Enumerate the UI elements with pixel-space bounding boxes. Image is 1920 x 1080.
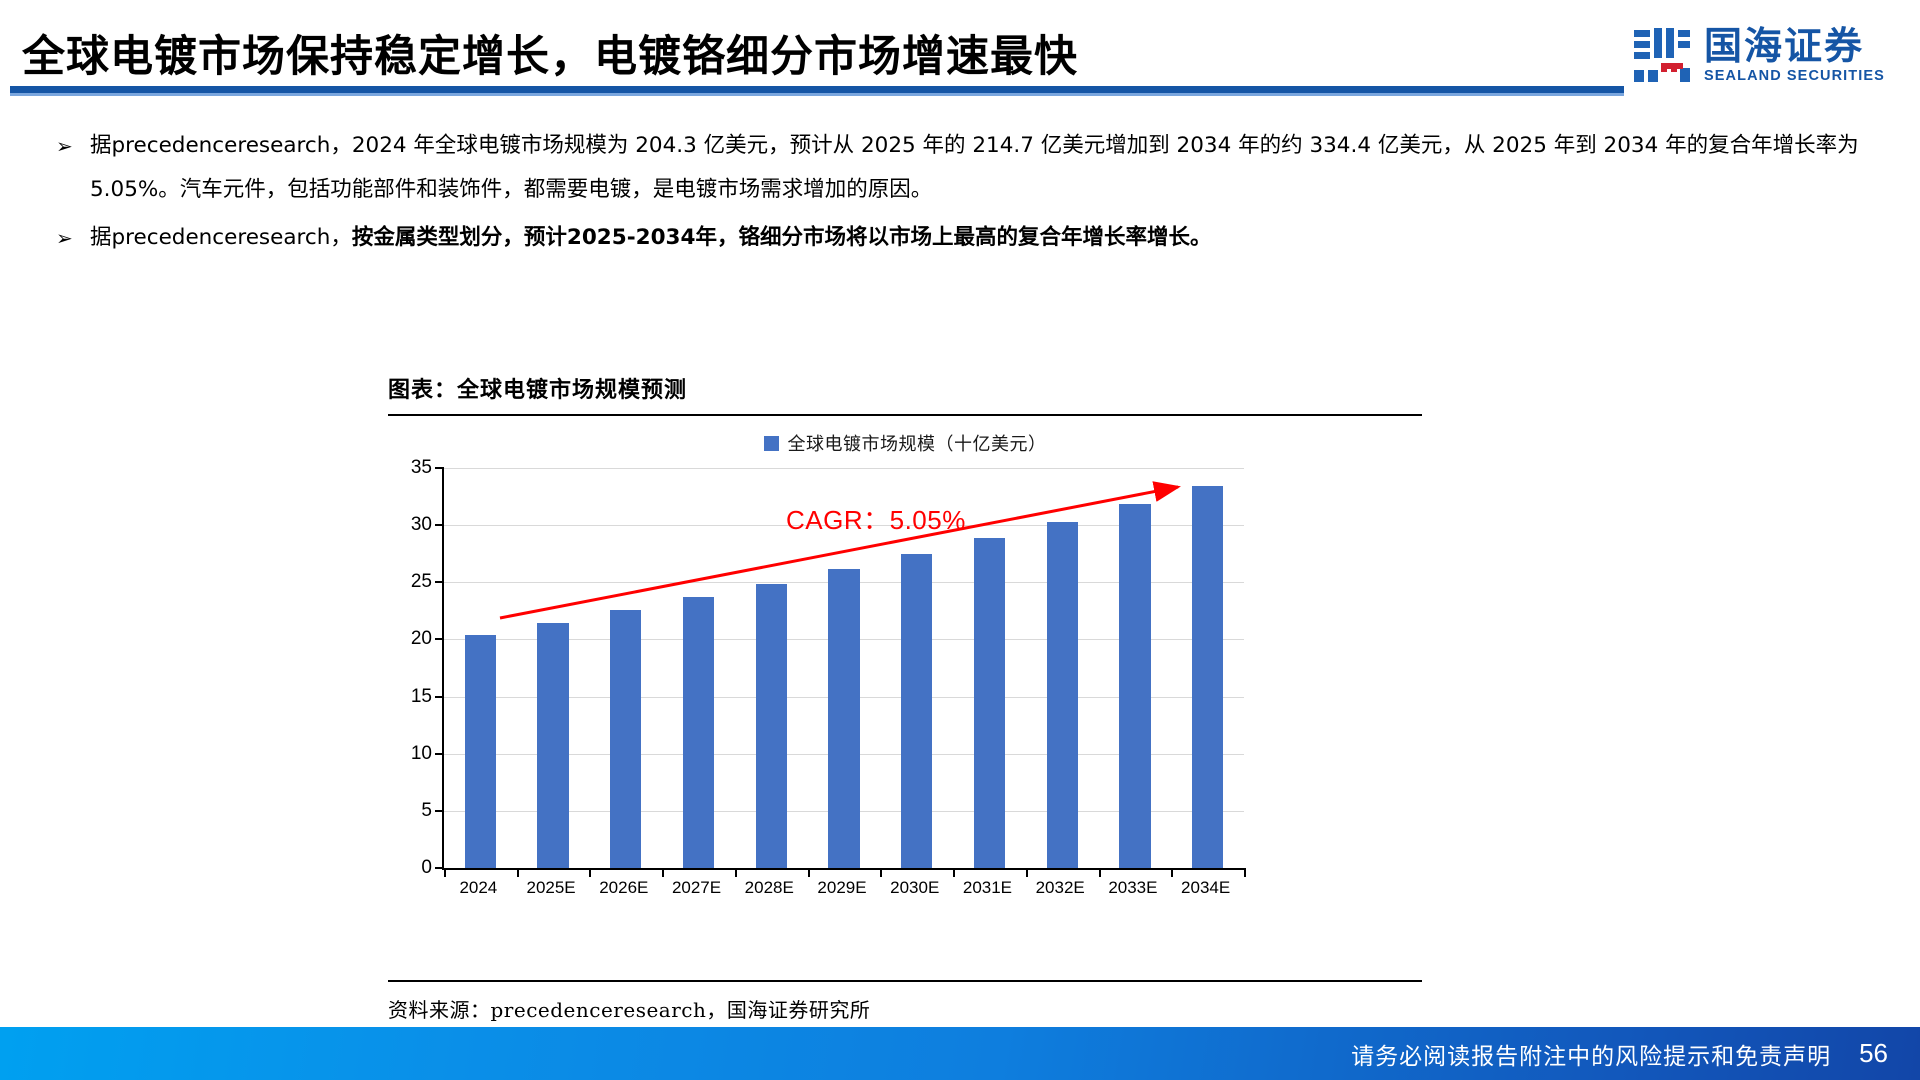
y-tick-mark [435, 467, 444, 469]
x-tick-label: 2032E [1036, 878, 1085, 898]
page-number: 56 [1859, 1038, 1888, 1069]
x-tick-mark [444, 868, 446, 877]
figure-title: 图表：全球电镀市场规模预测 [388, 372, 1422, 414]
figure-block: 图表：全球电镀市场规模预测 全球电镀市场规模（十亿美元） 05101520253… [388, 372, 1422, 1023]
x-tick-mark [662, 868, 664, 877]
x-tick-label: 2030E [890, 878, 939, 898]
y-tick-mark [435, 524, 444, 526]
x-tick-label: 2025E [526, 878, 575, 898]
x-tick-mark [589, 868, 591, 877]
brand-wordmark: 国海证券 SEALAND SECURITIES [1704, 27, 1885, 84]
y-tick-mark [435, 581, 444, 583]
sealand-logo-icon [1630, 24, 1694, 86]
bullet-text-1: 据precedenceresearch，2024 年全球电镀市场规模为 204.… [90, 124, 1862, 212]
x-tick-label: 2031E [963, 878, 1012, 898]
bar [756, 584, 787, 868]
cagr-annotation-label: CAGR：5.05% [786, 500, 966, 537]
bar [537, 623, 568, 868]
x-tick-label: 2026E [599, 878, 648, 898]
bar [1119, 504, 1150, 868]
bullet-text-2-bold: 按金属类型划分，预计2025-2034年，铬细分市场将以市场上最高的复合年增长率… [352, 225, 1212, 250]
source-note: 资料来源：precedenceresearch，国海证券研究所 [388, 982, 1422, 1023]
bullet-arrow-icon: ➢ [56, 216, 90, 260]
x-tick-label: 2033E [1108, 878, 1157, 898]
x-tick-mark [953, 868, 955, 877]
bar [465, 635, 496, 868]
y-tick-label: 5 [388, 800, 432, 822]
bar [610, 610, 641, 868]
x-tick-mark [880, 868, 882, 877]
bar [974, 538, 1005, 868]
brand-logo: 国海证券 SEALAND SECURITIES [1630, 20, 1902, 90]
x-tick-mark [1244, 868, 1246, 877]
brand-name-en: SEALAND SECURITIES [1704, 68, 1885, 84]
y-tick-mark [435, 810, 444, 812]
x-tick-mark [808, 868, 810, 877]
y-tick-label: 15 [388, 686, 432, 708]
x-tick-label: 2034E [1181, 878, 1230, 898]
y-tick-label: 35 [388, 457, 432, 479]
x-tick-label: 2027E [672, 878, 721, 898]
y-tick-mark [435, 638, 444, 640]
title-rule-thin [10, 93, 1624, 96]
bar [901, 554, 932, 868]
x-axis-labels: 20242025E2026E2027E2028E2029E2030E2031E2… [442, 878, 1242, 918]
y-tick-mark [435, 867, 444, 869]
bar-chart: 全球电镀市场规模（十亿美元） 05101520253035 20242025E2… [388, 416, 1422, 976]
bar [683, 597, 714, 868]
x-tick-mark [517, 868, 519, 877]
bullet-text-2-lead: 据precedenceresearch， [90, 225, 352, 250]
y-tick-label: 25 [388, 571, 432, 593]
title-rule-thick [10, 86, 1624, 93]
x-tick-mark [1026, 868, 1028, 877]
brand-name-cn: 国海证券 [1704, 27, 1885, 65]
y-tick-label: 0 [388, 857, 432, 879]
legend-label: 全球电镀市场规模（十亿美元） [788, 430, 1047, 456]
bullet-item-2: ➢ 据precedenceresearch，按金属类型划分，预计2025-203… [56, 216, 1862, 260]
page-title: 全球电镀市场保持稳定增长，电镀铬细分市场增速最快 [22, 22, 1078, 84]
bullet-arrow-icon: ➢ [56, 124, 90, 168]
y-tick-label: 30 [388, 514, 432, 536]
x-tick-label: 2029E [817, 878, 866, 898]
slide-footer: 请务必阅读报告附注中的风险提示和免责声明 56 [0, 1027, 1920, 1080]
x-tick-mark [1099, 868, 1101, 877]
bar [1047, 522, 1078, 869]
x-tick-label: 2028E [745, 878, 794, 898]
bullet-list: ➢ 据precedenceresearch，2024 年全球电镀市场规模为 20… [56, 124, 1862, 264]
y-tick-label: 10 [388, 743, 432, 765]
bar [1192, 486, 1223, 868]
slide-header: 全球电镀市场保持稳定增长，电镀铬细分市场增速最快 [0, 0, 1920, 104]
legend-swatch-icon [764, 436, 779, 451]
x-tick-label: 2024 [459, 878, 497, 898]
x-tick-mark [1171, 868, 1173, 877]
y-tick-mark [435, 753, 444, 755]
bullet-item-1: ➢ 据precedenceresearch，2024 年全球电镀市场规模为 20… [56, 124, 1862, 212]
x-tick-mark [735, 868, 737, 877]
bullet-text-2: 据precedenceresearch，按金属类型划分，预计2025-2034年… [90, 216, 1862, 260]
y-axis-labels: 05101520253035 [388, 468, 432, 868]
plot-wrap: 05101520253035 20242025E2026E2027E2028E2… [388, 468, 1422, 928]
chart-legend: 全球电镀市场规模（十亿美元） [388, 430, 1422, 456]
y-tick-label: 20 [388, 628, 432, 650]
footer-disclaimer: 请务必阅读报告附注中的风险提示和免责声明 [1351, 1037, 1831, 1071]
bar [828, 569, 859, 868]
y-tick-mark [435, 696, 444, 698]
